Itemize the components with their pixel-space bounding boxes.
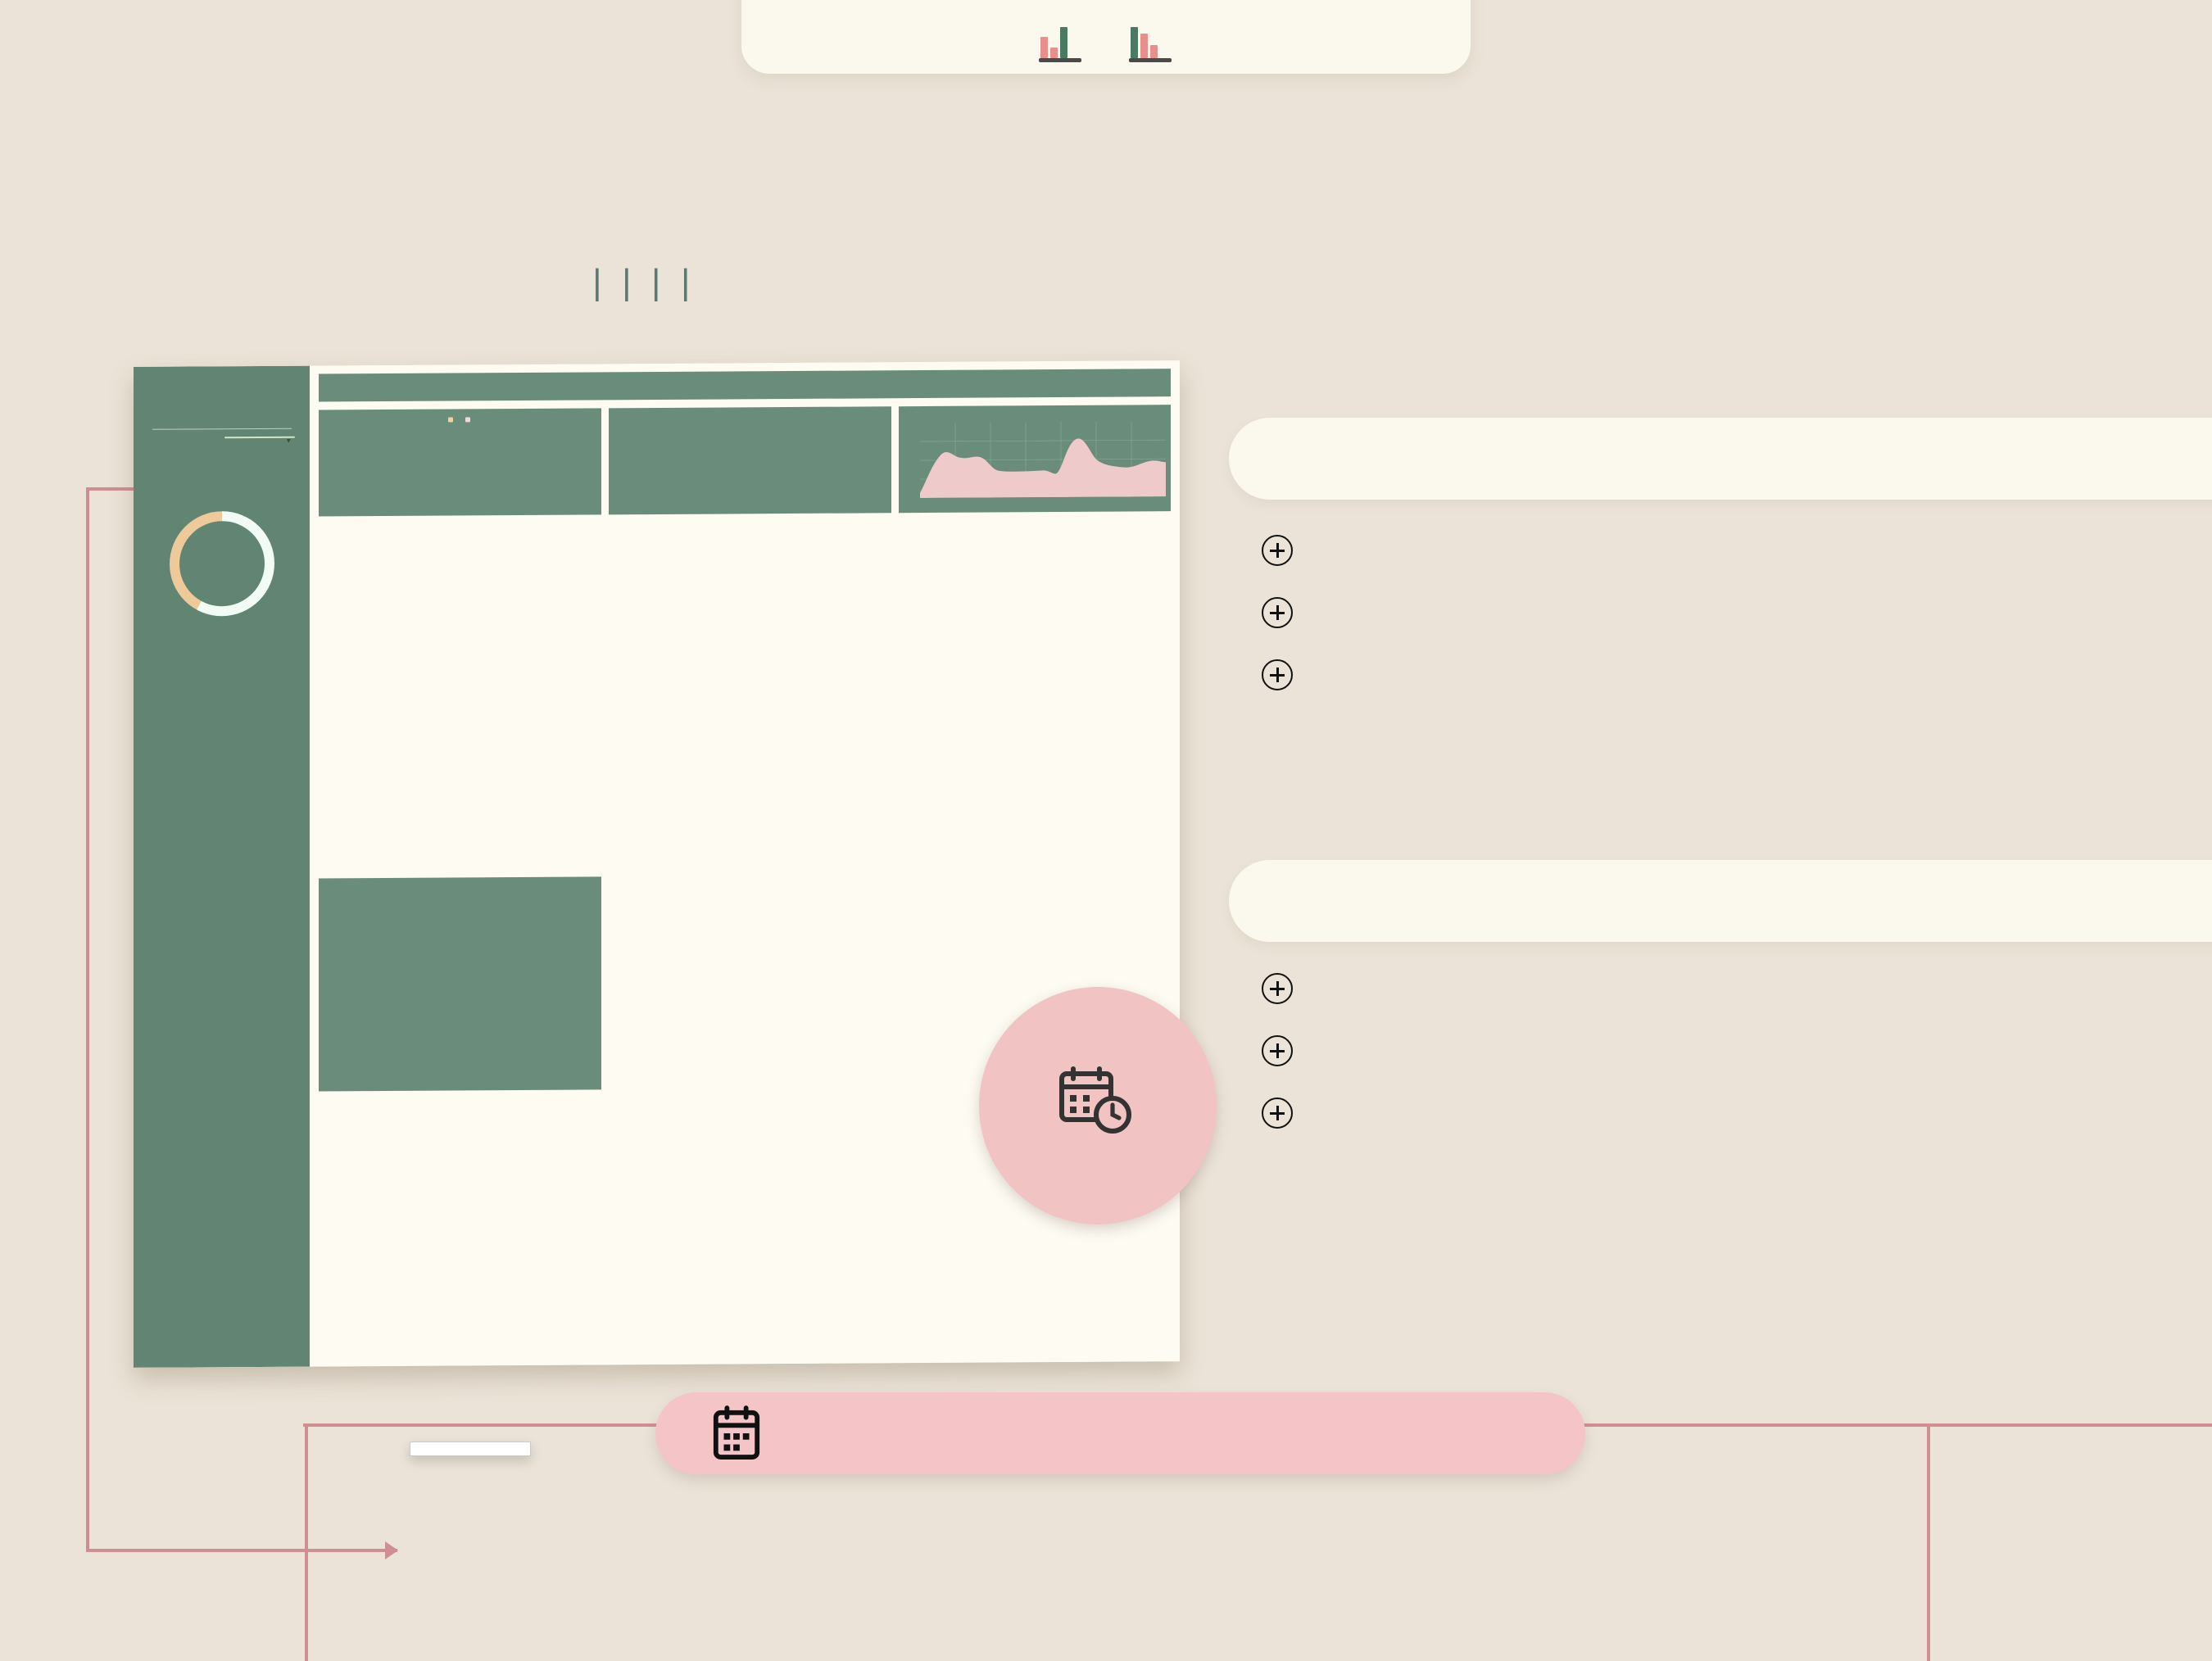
plus-icon (1262, 659, 1293, 690)
money-pie-legend (324, 1085, 596, 1087)
budgeting-period-callout (655, 1392, 1585, 1474)
frequency-row (149, 437, 295, 439)
plus-icon (1262, 1035, 1293, 1066)
income-table[interactable] (319, 852, 601, 853)
spreadsheet-sidebar (134, 366, 310, 1368)
daily-balance-table[interactable] (900, 1237, 1171, 1247)
connector-arrow (385, 1541, 398, 1559)
chart-title (325, 414, 595, 415)
table-title (319, 1248, 601, 1250)
bullet-item (1262, 591, 2187, 628)
plus-icon (1262, 597, 1293, 628)
where-money-goes-chart (319, 876, 601, 1091)
chart-title (615, 412, 885, 414)
plus-icon (1262, 535, 1293, 566)
table-title (319, 531, 601, 532)
chart-title (905, 410, 1164, 412)
cash-flow-summary-chart (319, 408, 601, 516)
legend-planned (448, 418, 456, 423)
automated-summary-badge (741, 0, 1471, 74)
balance-area-path (920, 421, 1166, 498)
connector-line-vertical-right (1927, 1423, 1930, 1661)
debt-payments-table[interactable] (319, 1240, 601, 1250)
chart-legend (325, 416, 595, 423)
budget-period-dropdown[interactable] (410, 1441, 531, 1456)
bills-table[interactable] (610, 521, 892, 531)
plus-icon (1262, 1098, 1293, 1129)
plus-icon (1262, 973, 1293, 1004)
table-title (610, 529, 892, 531)
feature-heading-2 (1229, 860, 2212, 942)
money-pie (396, 895, 523, 1023)
balance-chart (899, 405, 1171, 513)
feature-bullets-2 (1262, 966, 2187, 1153)
spreadsheet-main (310, 360, 1180, 1366)
calendar-icon (711, 1405, 762, 1462)
budget-by-subtitle: |||| (0, 262, 1286, 303)
legend-actual (465, 417, 473, 422)
bullet-item (1262, 1091, 2187, 1129)
allocation-chart (609, 406, 891, 514)
tables-row-1 (319, 519, 1171, 532)
tables-row-2 (319, 1237, 1171, 1250)
bullet-item (1262, 966, 2187, 1004)
table-title (900, 527, 1171, 529)
bullet-item (1262, 528, 2187, 566)
budget-spreadsheet-screenshot[interactable] (134, 360, 1180, 1368)
calendar-clock-icon (1058, 1066, 1137, 1138)
allocation-pie (640, 428, 715, 504)
table-title (900, 1245, 1171, 1247)
connector-line-to-dropdown (86, 1549, 397, 1552)
charts-row (319, 405, 1171, 516)
bar-chart-icon (1037, 23, 1085, 62)
bullet-item (1262, 1029, 2187, 1066)
balance-x-axis (920, 509, 1166, 511)
expenses-table[interactable] (900, 519, 1171, 529)
connector-line-vertical-left (86, 487, 89, 1552)
bullet-item (1262, 653, 2187, 690)
table-title (610, 1247, 892, 1248)
feature-bullets-1 (1262, 528, 2187, 715)
income-block (319, 844, 601, 1091)
connector-line-vertical-mid (305, 1423, 308, 1661)
frequency-select[interactable] (224, 437, 295, 439)
left-to-spend-donut (170, 511, 274, 617)
todo-list[interactable] (148, 654, 296, 654)
start-date-row (149, 442, 295, 443)
kpi-bar (319, 369, 1171, 401)
poster-canvas: |||| (0, 0, 2212, 1659)
table-title (319, 852, 601, 853)
balance-y-axis (905, 410, 1164, 412)
feature-heading-1 (1229, 418, 2212, 500)
bar-chart-icon (1127, 23, 1175, 62)
chart-title (325, 882, 595, 884)
any-pay-schedule-badge (979, 987, 1217, 1224)
cash-flow-summary-table[interactable] (319, 523, 601, 532)
savings-table[interactable] (610, 1238, 892, 1248)
